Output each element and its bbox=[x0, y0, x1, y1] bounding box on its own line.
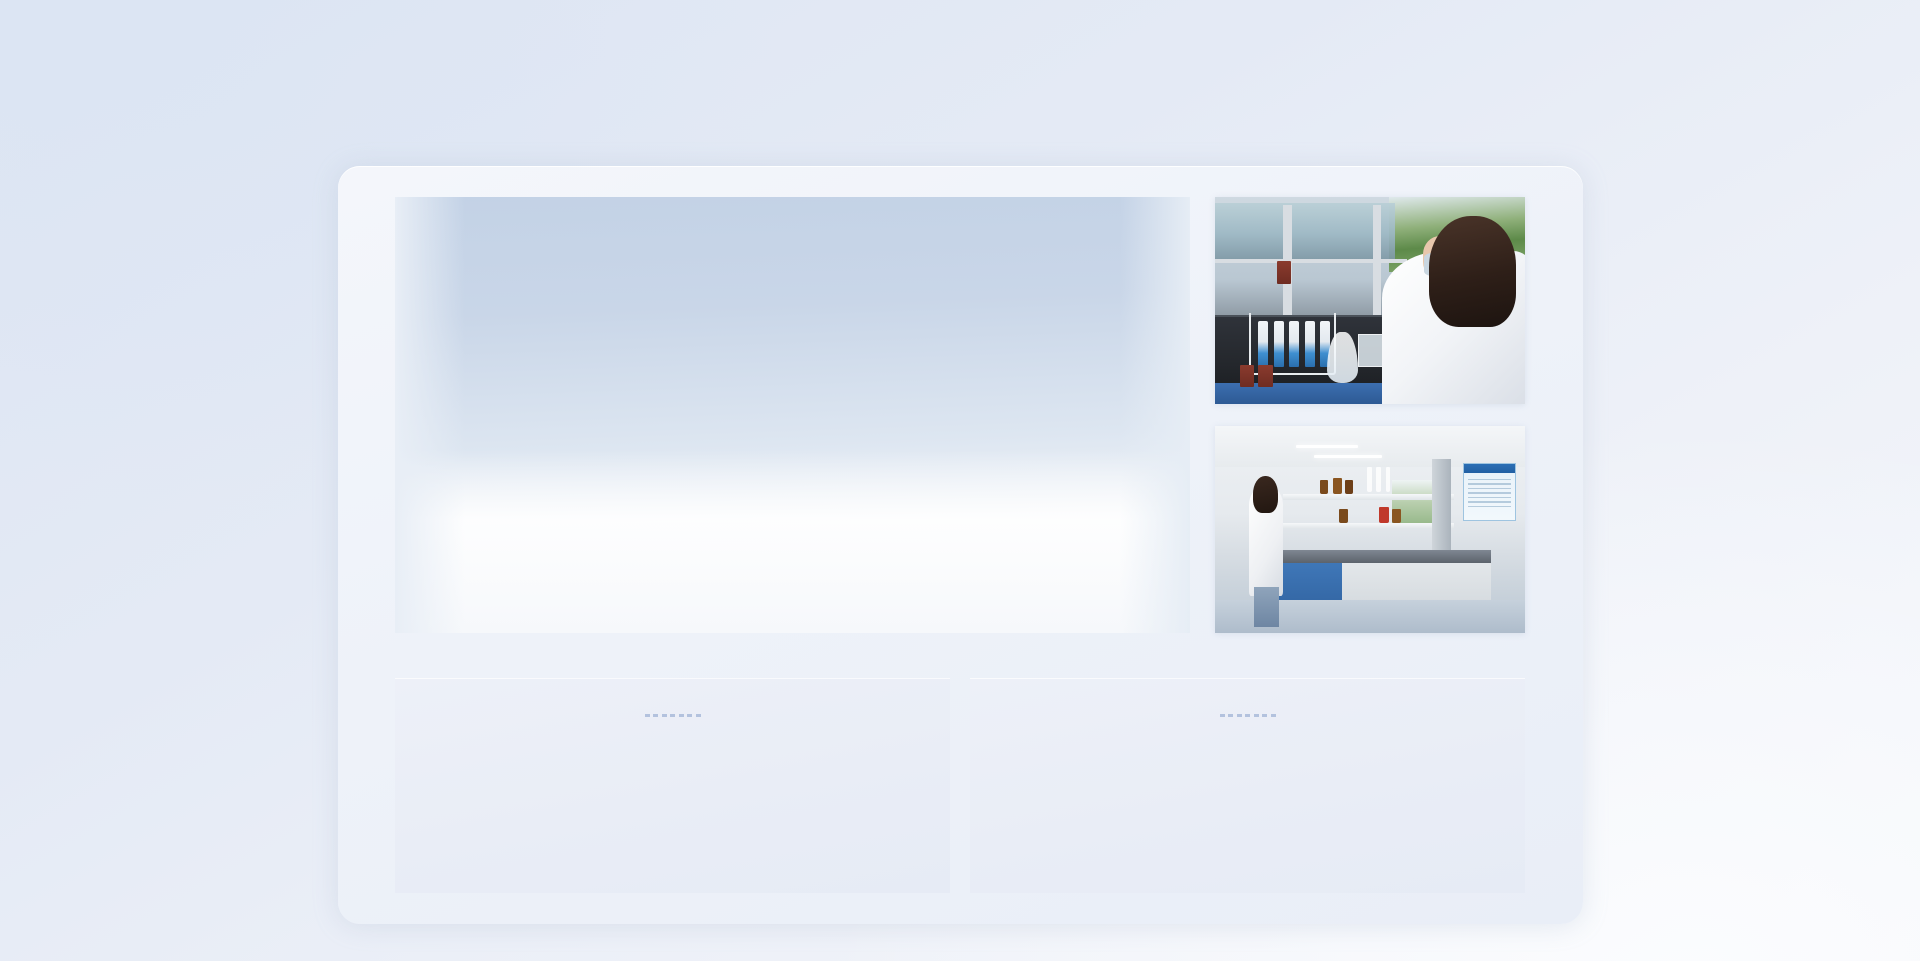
lab-bottom-bottle-5 bbox=[1379, 507, 1388, 524]
card-dash-divider bbox=[1220, 714, 1276, 717]
media-grid bbox=[395, 197, 1525, 633]
feature-cards bbox=[395, 678, 1525, 893]
lab-top-glass-partition bbox=[1215, 203, 1395, 259]
lab-bottom-ceiling-light-2 bbox=[1314, 455, 1382, 458]
lab-bottom-bottle-4 bbox=[1339, 509, 1348, 523]
feature-card-technical-strength[interactable] bbox=[970, 678, 1525, 893]
lab-bottom-stool bbox=[1218, 558, 1246, 591]
promo-page bbox=[0, 0, 1920, 961]
lab-top-reagent-bottle-2 bbox=[1258, 365, 1272, 388]
lab-top-technician-hair bbox=[1429, 216, 1516, 328]
content-panel bbox=[338, 166, 1583, 924]
lab-bottom-researcher-hair bbox=[1253, 476, 1278, 513]
lab-top-reagent-bottle-1 bbox=[1240, 365, 1254, 388]
lab-bottom-glassware-2 bbox=[1376, 467, 1381, 492]
lab-bottom-ceiling-light-1 bbox=[1296, 445, 1358, 448]
lab-bottom-bottle-6 bbox=[1392, 509, 1401, 523]
poster-line-5 bbox=[1468, 497, 1511, 499]
photo-floor-glow bbox=[395, 450, 1190, 633]
lab-bottom-bottle-3 bbox=[1345, 480, 1353, 494]
lab-bottom-glassware-3 bbox=[1386, 467, 1391, 492]
poster-line-4 bbox=[1468, 492, 1511, 494]
poster-line-7 bbox=[1468, 506, 1511, 508]
card-dash-divider bbox=[645, 714, 701, 717]
lab-bottom-shelf-lower bbox=[1283, 523, 1454, 528]
poster-line-2 bbox=[1468, 483, 1511, 485]
lab-photo-bottom bbox=[1215, 426, 1525, 633]
lab-bottom-ceiling bbox=[1215, 426, 1525, 467]
feature-card-independent-rnd[interactable] bbox=[395, 678, 950, 893]
lab-bottom-bottle-1 bbox=[1320, 480, 1328, 494]
lab-bottom-safety-poster bbox=[1463, 463, 1516, 521]
team-photo bbox=[395, 197, 1190, 633]
lab-bottom-shelf-upper bbox=[1283, 494, 1454, 499]
lab-top-pipette-2 bbox=[1274, 321, 1284, 367]
lab-top-rail bbox=[1215, 259, 1407, 263]
lab-top-pipette-3 bbox=[1289, 321, 1299, 367]
poster-line-1 bbox=[1468, 479, 1511, 481]
photo-right-fade bbox=[1120, 197, 1190, 633]
poster-line-6 bbox=[1468, 501, 1511, 503]
lab-photo-top bbox=[1215, 197, 1525, 404]
lab-bottom-researcher-jeans bbox=[1254, 587, 1279, 626]
lab-bottom-glassware-1 bbox=[1367, 467, 1372, 492]
lab-top-beaker bbox=[1358, 334, 1386, 367]
poster-line-3 bbox=[1468, 488, 1511, 490]
photo-left-fade bbox=[395, 197, 465, 633]
page-header bbox=[0, 38, 1920, 49]
lab-top-pipette-1 bbox=[1258, 321, 1268, 367]
lab-top-pipette-4 bbox=[1305, 321, 1315, 367]
lab-bottom-bottle-2 bbox=[1333, 478, 1342, 495]
poster-header-bar bbox=[1464, 464, 1515, 473]
lab-bottom-bench-top bbox=[1268, 550, 1491, 562]
lab-top-reagent-bottle-3 bbox=[1277, 261, 1291, 284]
